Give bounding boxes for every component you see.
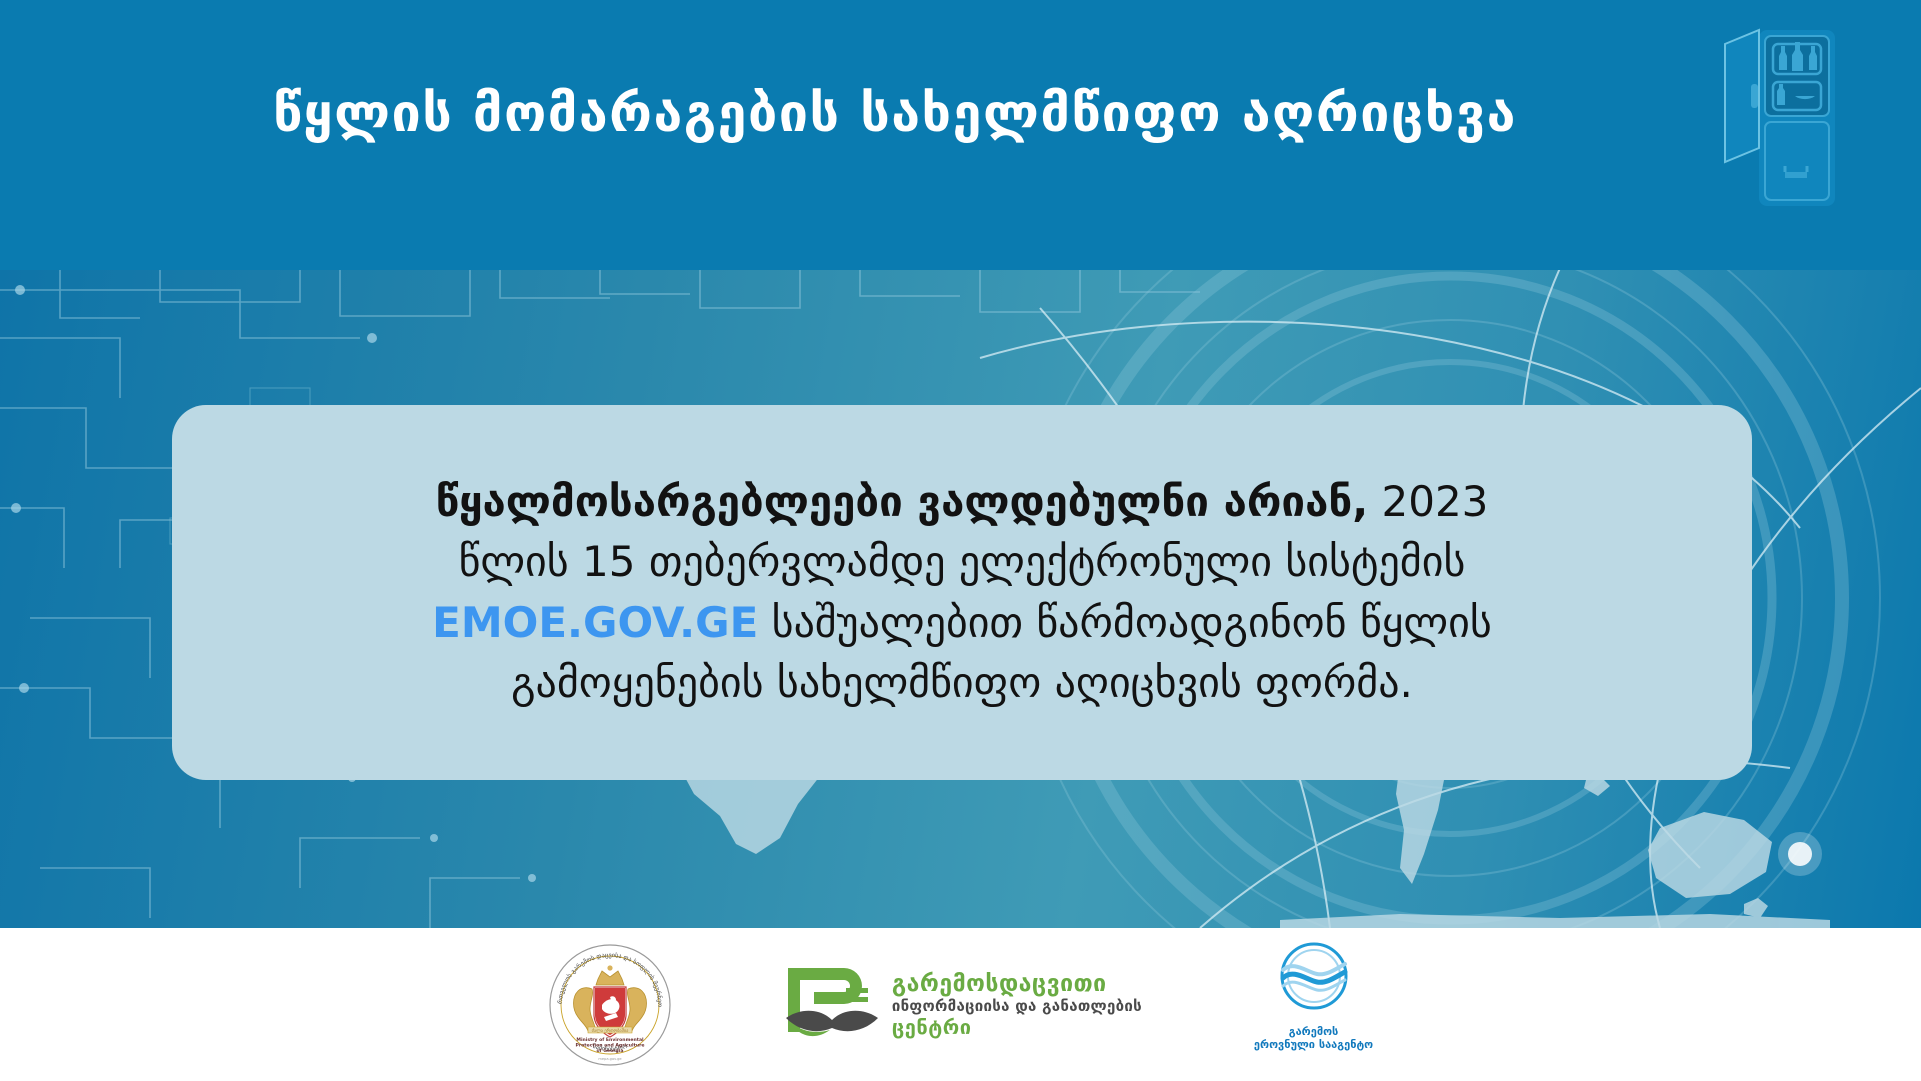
- svg-text:Ministry of Environmental: Ministry of Environmental: [576, 1037, 644, 1043]
- water-wave-circle-icon: [1271, 940, 1357, 1020]
- ministry-seal-icon: საქართველოს გარემოს დაცვისა და სოფლის მე…: [548, 943, 672, 1067]
- svg-text:mepa.gov.ge: mepa.gov.ge: [598, 1057, 622, 1061]
- nea-line2: ეროვნული სააგენტო: [1254, 1038, 1373, 1052]
- announcement-card: წყალმოსარგებლეები ვალდებულნი არიან, 2023…: [172, 405, 1752, 780]
- announcement-line2: წლის 15 თებერვლამდე ელექტრონული სისტემის: [459, 537, 1466, 586]
- logo-ministry: საქართველოს გარემოს დაცვისა და სოფლის მე…: [548, 940, 672, 1070]
- logo-eiec: გარემოსდაცვითი ინფორმაციისა და განათლები…: [784, 940, 1142, 1070]
- refrigerator-icon: [1723, 22, 1843, 212]
- announcement-line3: საშუალებით წარმოადგინონ წყლის: [772, 598, 1492, 647]
- page-title: წყლის მომარაგების სახელმწიფო აღრიცხვა: [0, 86, 1790, 143]
- announcement-line1-bold: წყალმოსარგებლეები ვალდებულნი არიან,: [436, 477, 1369, 526]
- emoe-gov-ge-link[interactable]: EMOE.GOV.GE: [432, 598, 758, 647]
- eiec-text-block: გარემოსდაცვითი ინფორმაციისა და განათლები…: [892, 973, 1142, 1037]
- poster-root: წყლის მომარაგების სახელმწიფო აღრიცხვა: [0, 0, 1921, 1081]
- open-book-leaf-icon: [784, 962, 880, 1048]
- logo-nea: გარემოს ეროვნული სააგენტო: [1254, 940, 1373, 1070]
- svg-text:of Georgia: of Georgia: [596, 1048, 623, 1054]
- header-band: წყლის მომარაგების სახელმწიფო აღრიცხვა: [0, 0, 1921, 270]
- eiec-line3: ცენტრი: [892, 1017, 1142, 1037]
- nea-line1: გარემოს: [1254, 1025, 1373, 1039]
- eiec-line1: გარემოსდაცვითი: [892, 973, 1142, 996]
- nea-text-block: გარემოს ეროვნული სააგენტო: [1254, 1025, 1373, 1053]
- announcement-year: 2023: [1382, 477, 1489, 526]
- svg-text:ძალა ერთობაშია: ძალა ერთობაშია: [591, 1027, 629, 1034]
- announcement-text: წყალმოსარგებლეები ვალდებულნი არიან, 2023…: [282, 472, 1642, 714]
- announcement-line4: გამოყენების სახელმწიფო აღიცხვის ფორმა.: [511, 658, 1413, 707]
- svg-text:Protection and Agriculture: Protection and Agriculture: [575, 1042, 644, 1048]
- footer-logos: საქართველოს გარემოს დაცვისა და სოფლის მე…: [0, 928, 1921, 1081]
- eiec-line2: ინფორმაციისა და განათლების: [892, 999, 1142, 1014]
